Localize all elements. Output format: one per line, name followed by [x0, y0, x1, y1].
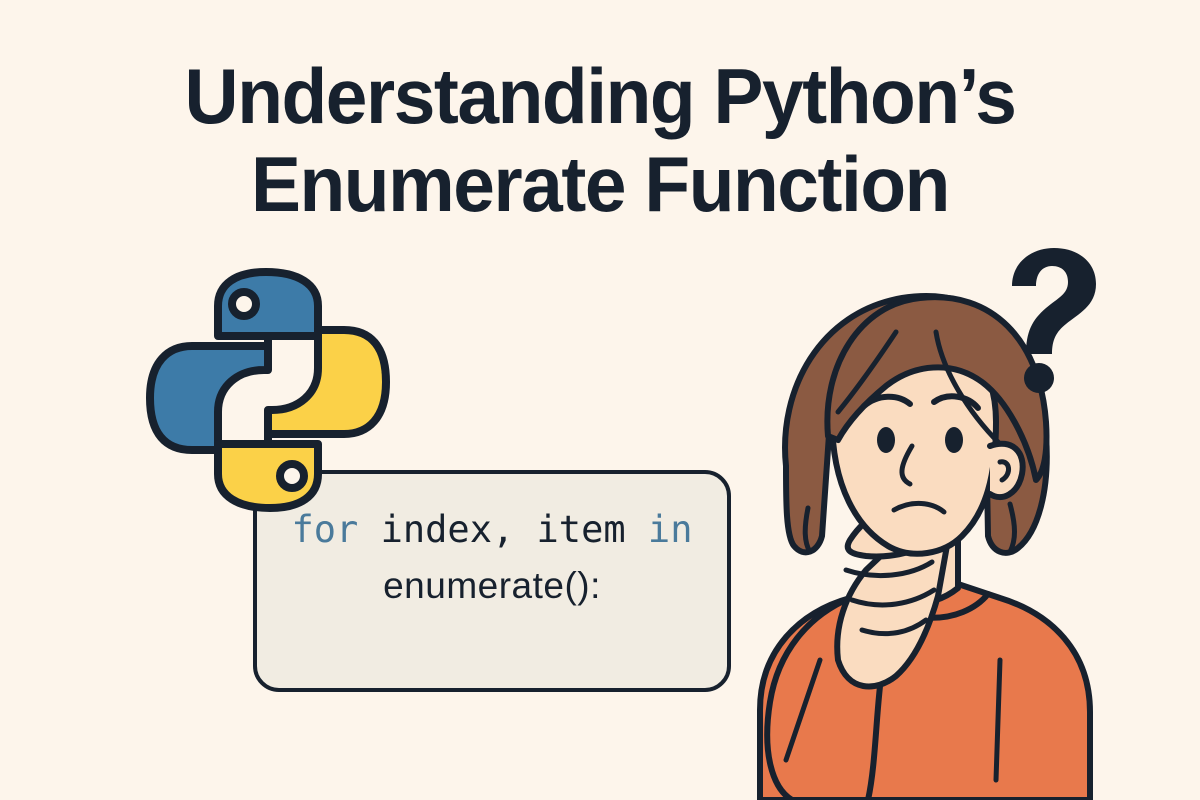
- code-text: for index, item in enumerate():: [257, 502, 727, 614]
- code-variables: index, item: [358, 508, 648, 551]
- title-line-1: Understanding Python’s: [24, 52, 1176, 140]
- python-logo-blue-eye: [232, 292, 256, 316]
- code-keyword-in: in: [648, 508, 693, 551]
- poster-canvas: Understanding Python’s Enumerate Functio…: [0, 0, 1200, 800]
- right-eye: [945, 427, 963, 453]
- thinking-person-illustration: [700, 240, 1120, 800]
- left-eye: [877, 427, 895, 453]
- page-title: Understanding Python’s Enumerate Functio…: [0, 52, 1200, 228]
- code-line-2: enumerate():: [257, 558, 727, 614]
- python-logo-icon: [140, 262, 396, 518]
- python-logo-yellow-eye: [280, 464, 304, 488]
- title-line-2: Enumerate Function: [24, 140, 1176, 228]
- question-mark-icon: [1012, 248, 1096, 354]
- question-mark-dot: [1024, 363, 1054, 393]
